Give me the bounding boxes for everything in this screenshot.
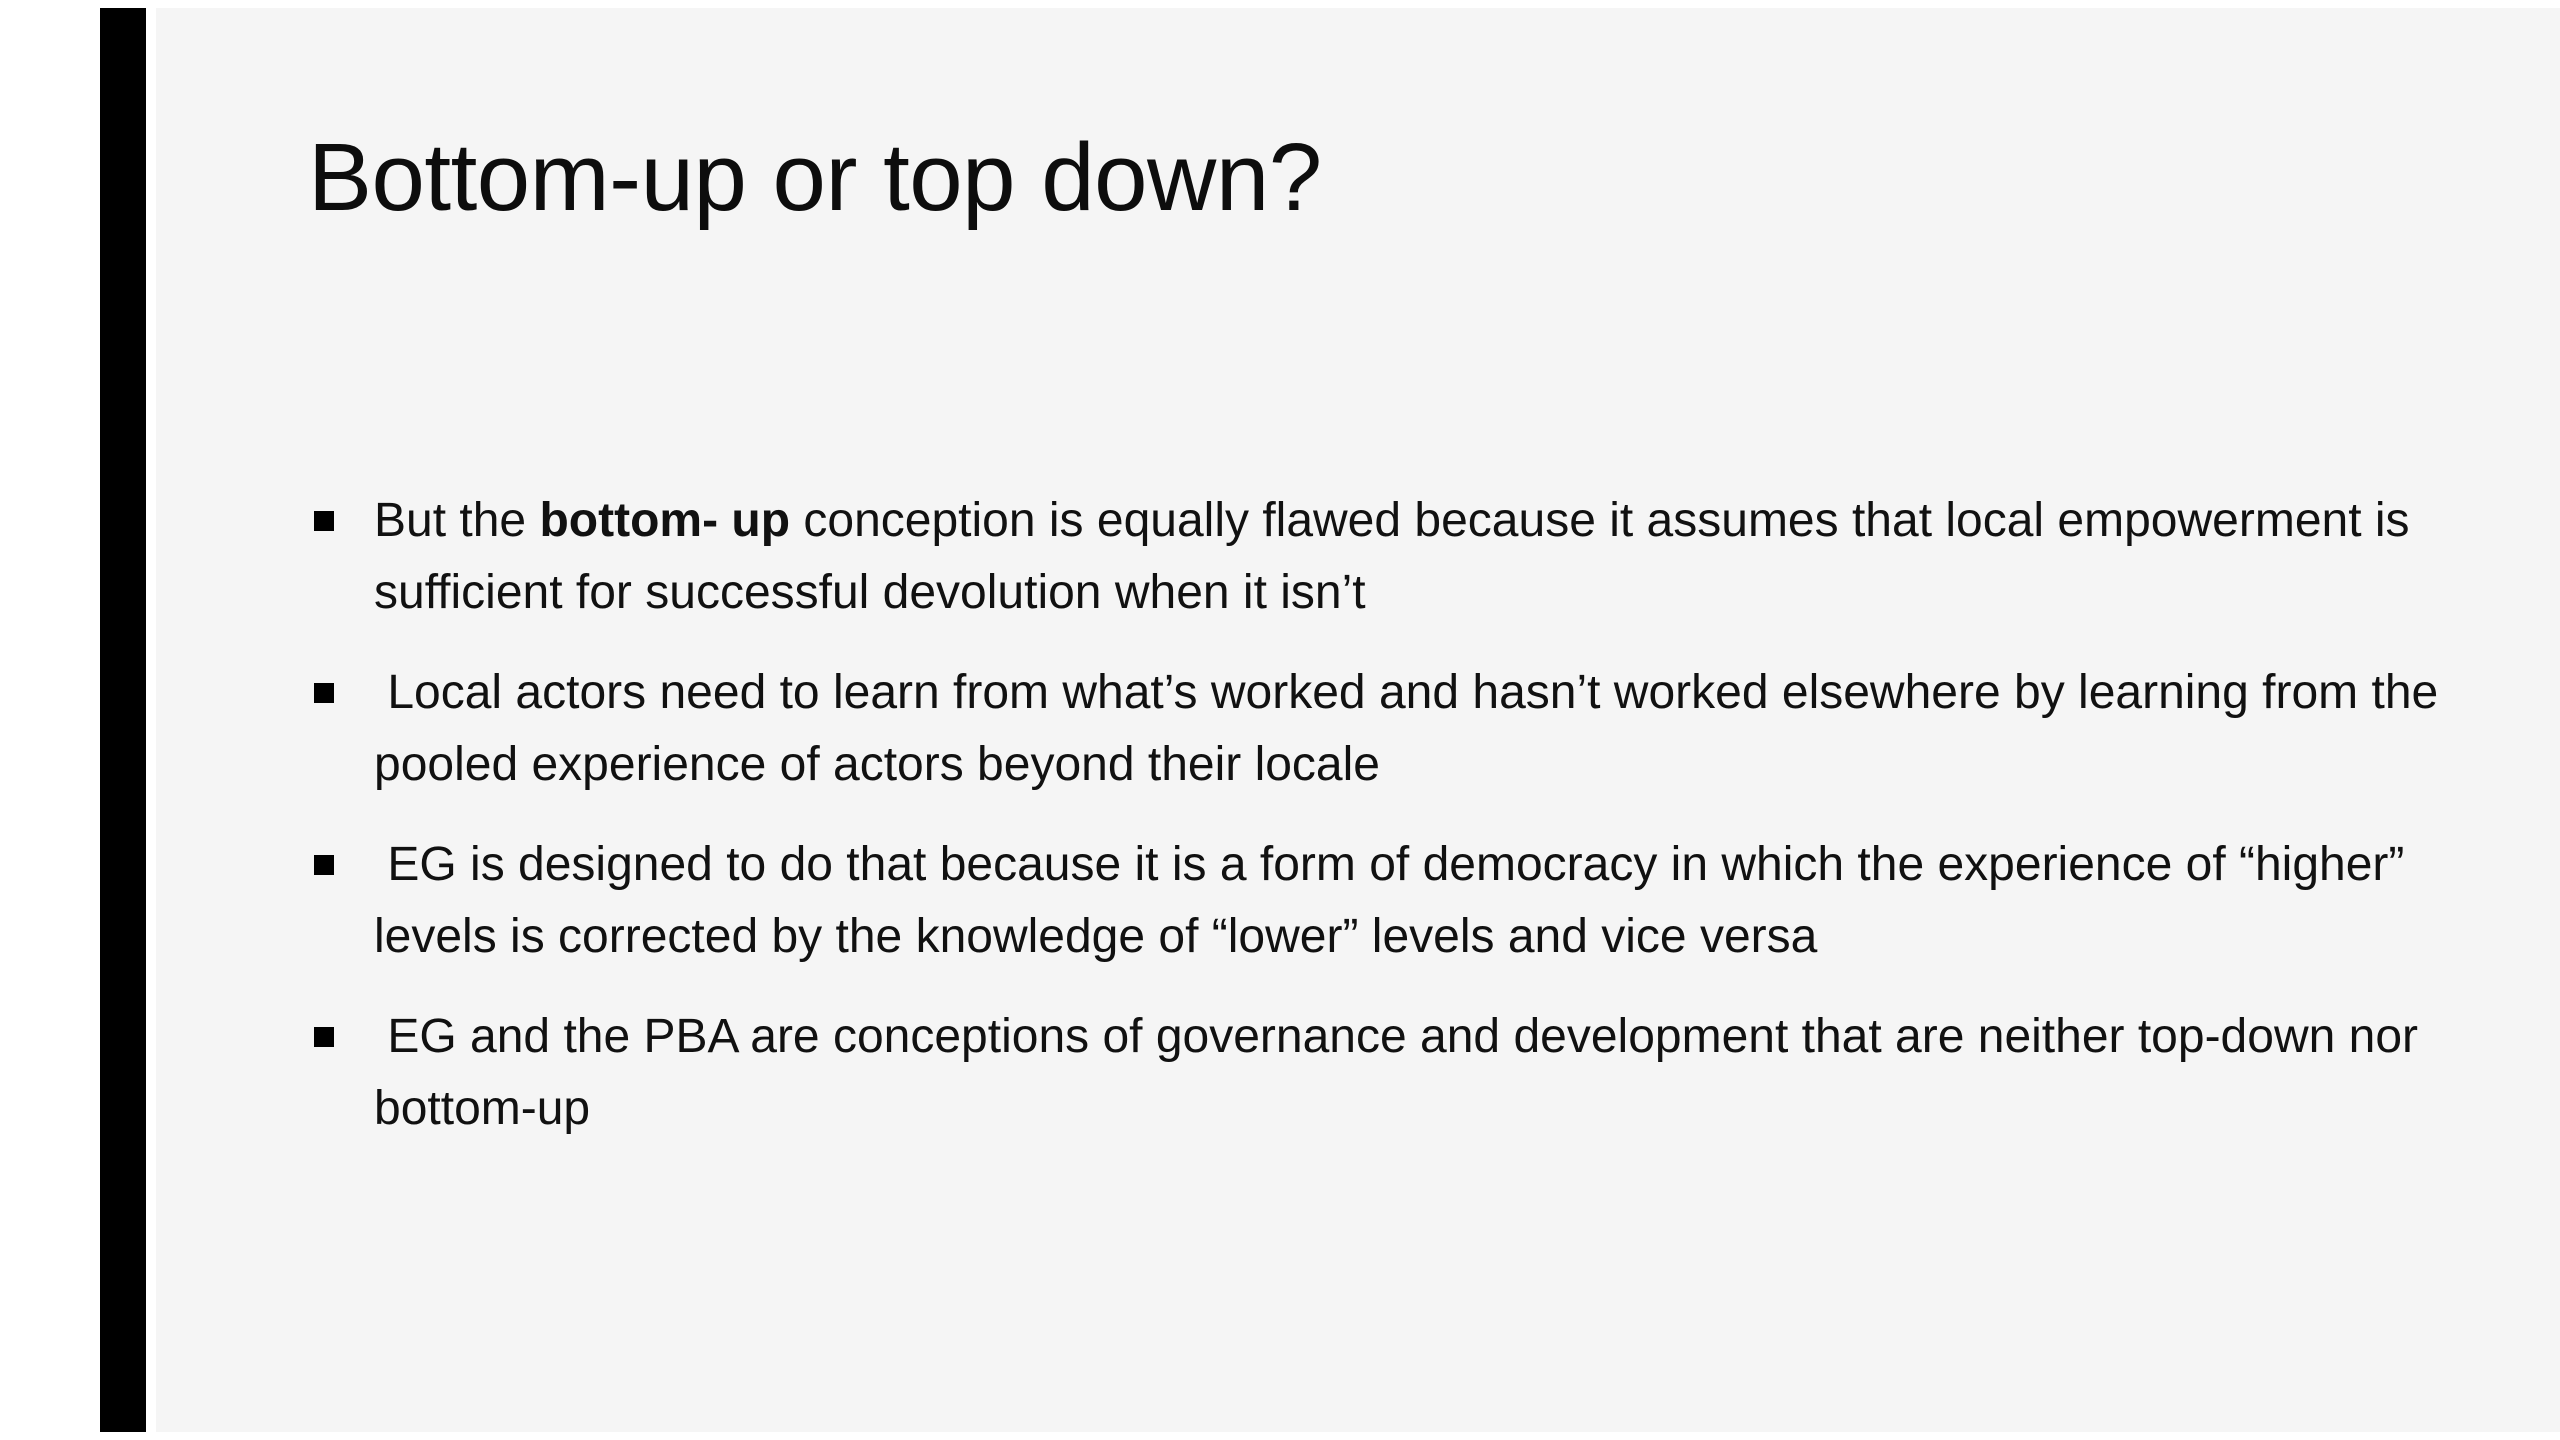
bullet-text: EG and the PBA are conceptions of govern…: [374, 1001, 2456, 1145]
bullet-square-icon: [296, 485, 374, 531]
list-item: EG and the PBA are conceptions of govern…: [296, 1001, 2456, 1145]
bullet-text-bold: bottom- up: [539, 494, 790, 547]
slide-content: Bottom-up or top down? But the bottom- u…: [156, 0, 2560, 1440]
bullet-text: EG is designed to do that because it is …: [374, 829, 2456, 973]
bullet-text-lead: But the: [374, 494, 539, 547]
left-white-gutter: [0, 0, 100, 1440]
bullet-text: But the bottom- up conception is equally…: [374, 485, 2456, 629]
bullet-square-icon: [296, 1001, 374, 1047]
bullet-text: Local actors need to learn from what’s w…: [374, 657, 2456, 801]
accent-bar-gap: [146, 0, 156, 1440]
left-accent-bar: [100, 8, 146, 1432]
list-item: Local actors need to learn from what’s w…: [296, 657, 2456, 801]
bullet-list: But the bottom- up conception is equally…: [296, 485, 2456, 1173]
slide-title: Bottom-up or top down?: [308, 130, 2408, 226]
list-item: EG is designed to do that because it is …: [296, 829, 2456, 973]
list-item: But the bottom- up conception is equally…: [296, 485, 2456, 629]
bullet-text-lead: EG is designed to do that because it is …: [374, 838, 2418, 963]
presentation-slide: Bottom-up or top down? But the bottom- u…: [0, 0, 2560, 1440]
bullet-square-icon: [296, 829, 374, 875]
bullet-text-lead: Local actors need to learn from what’s w…: [374, 666, 2452, 791]
bullet-text-lead: EG and the PBA are conceptions of govern…: [374, 1010, 2431, 1135]
bullet-square-icon: [296, 657, 374, 703]
